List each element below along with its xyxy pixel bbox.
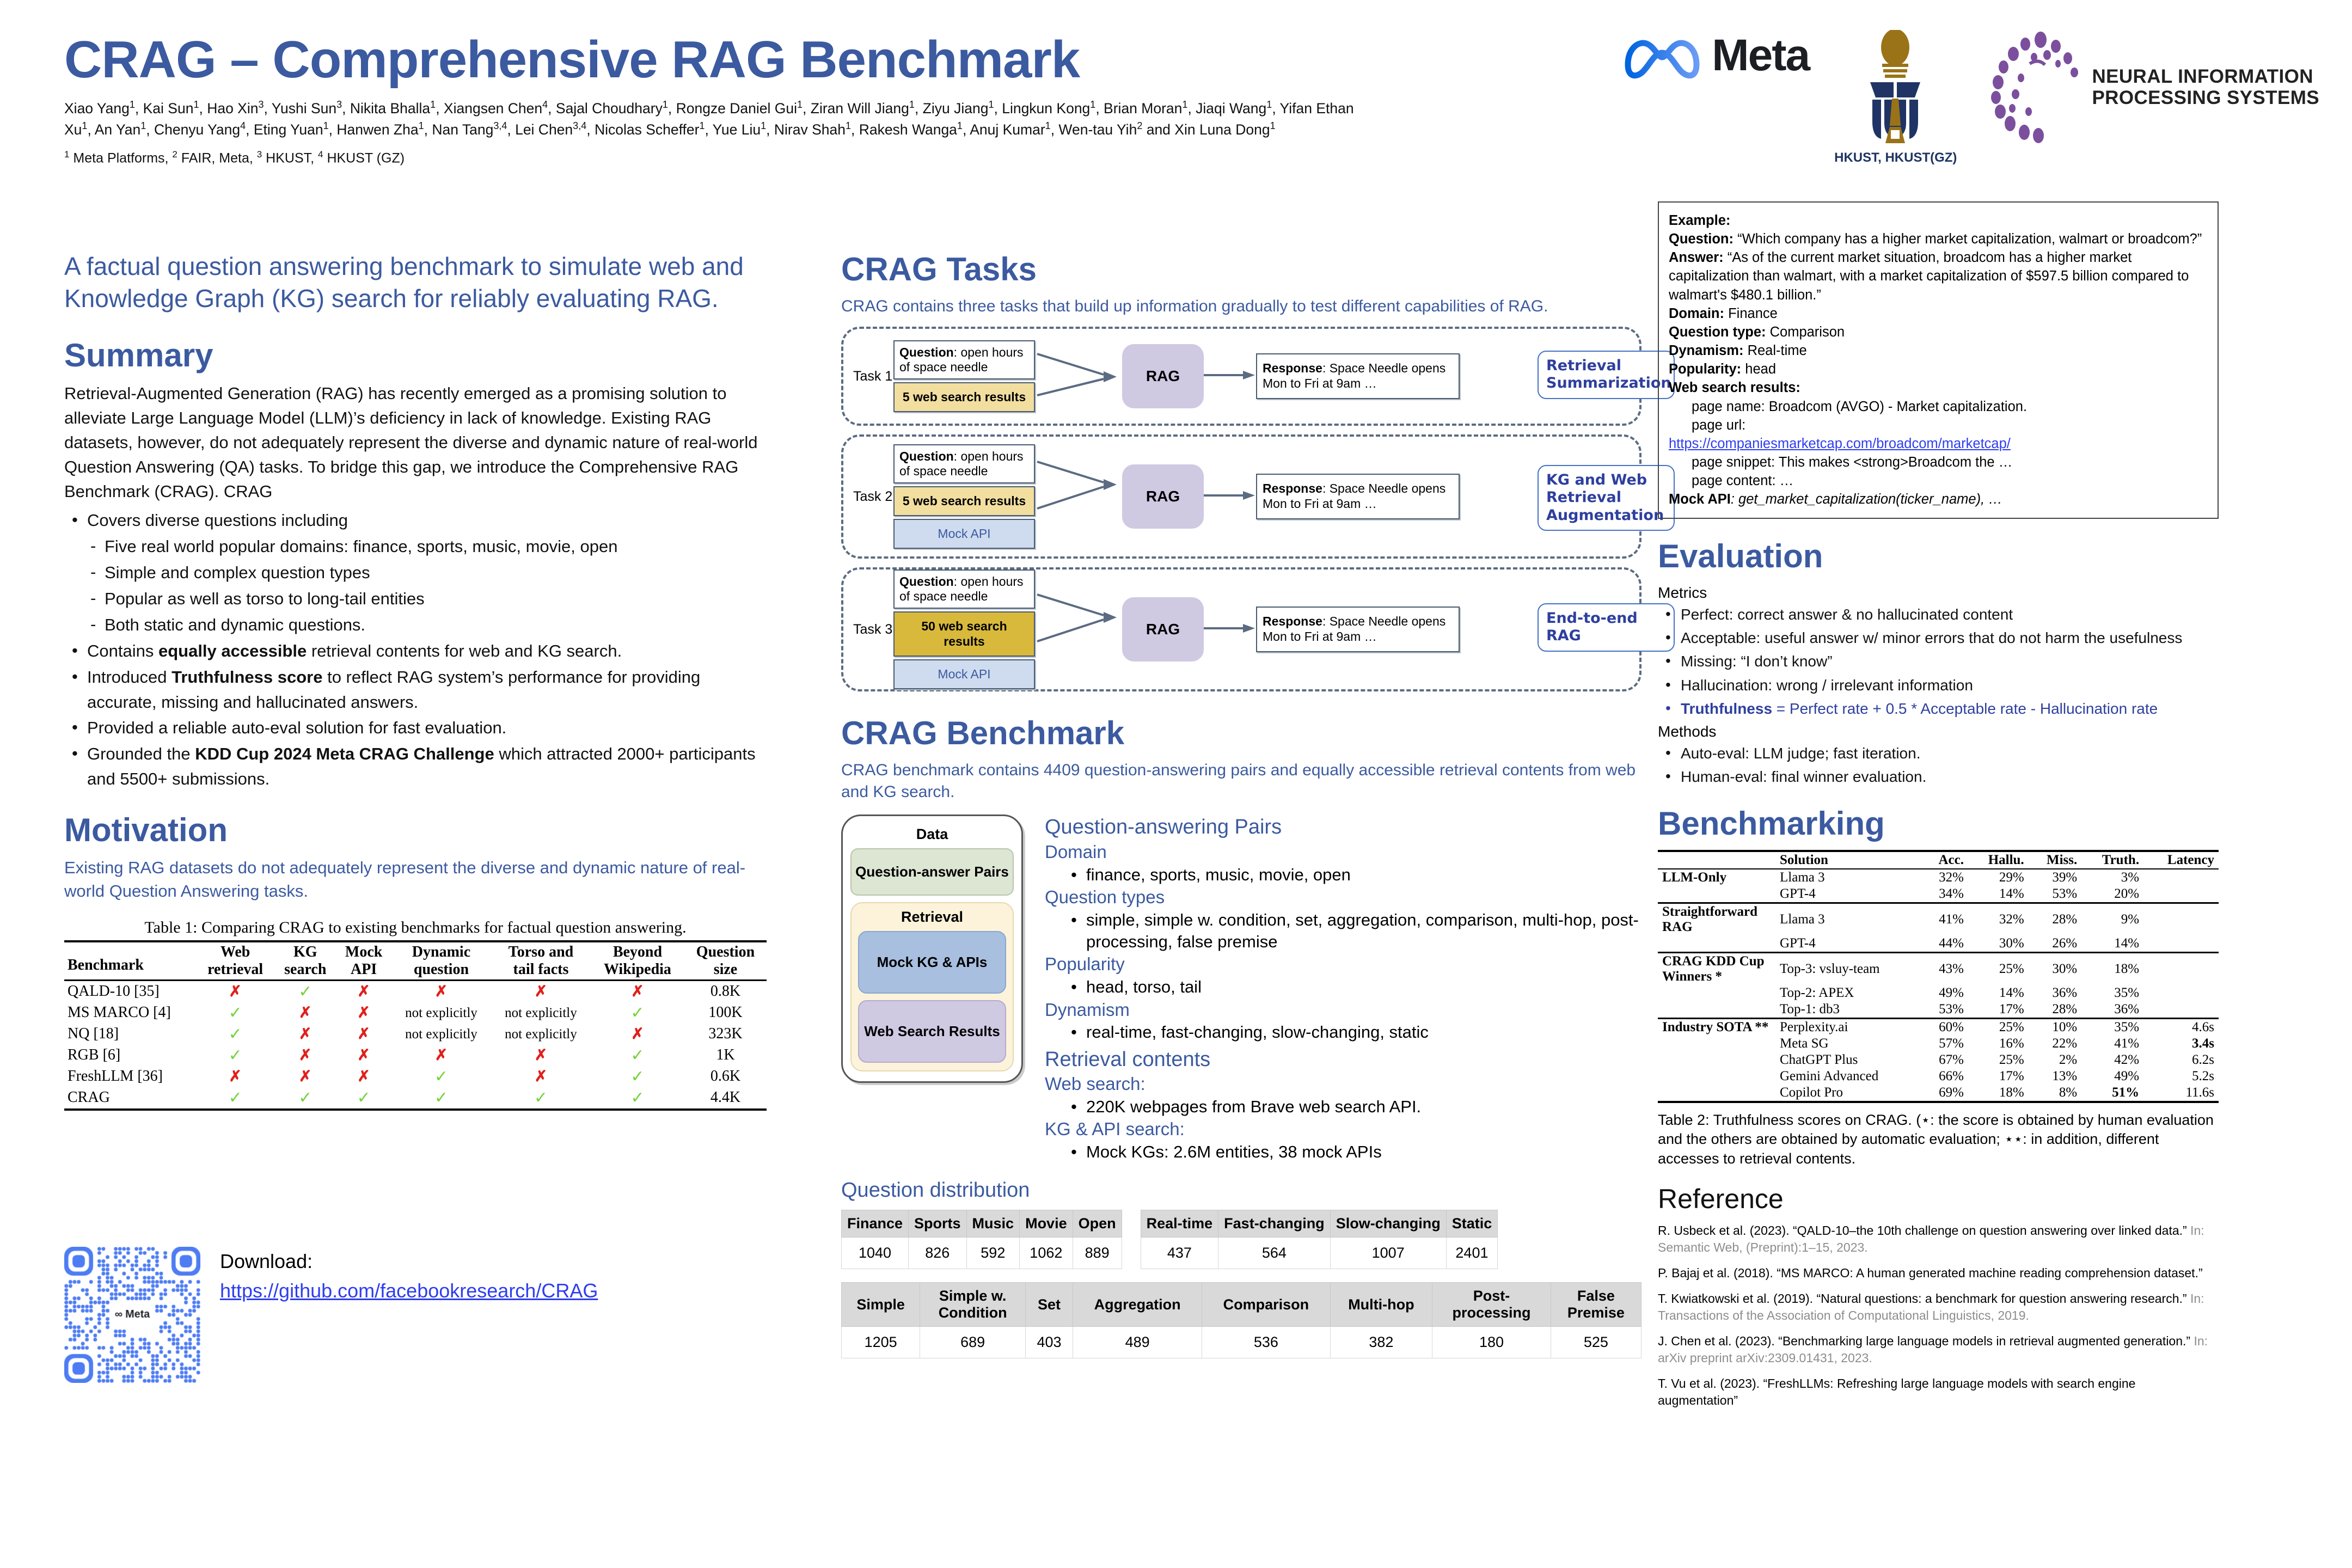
data-stack-diagram: Data Question-answer Pairs Retrieval Moc… [841,814,1023,1083]
hallu-cell: 17% [1968,1001,2029,1019]
page-title: CRAG – Comprehensive RAG Benchmark [64,30,1414,90]
table-row: MS MARCO [4]✓✗✗not explicitlynot explici… [64,1002,767,1024]
table-row: Top-2: APEX49%14%36%35% [1658,985,2219,1001]
response-cell: Response: Space Needle opens Mon to Fri … [1256,474,1460,519]
cell: 489 [1073,1327,1202,1358]
response-cell: Response: Space Needle opens Mon to Fri … [1256,607,1460,652]
list-item: Simple and complex question types [64,560,767,585]
truth-cell: 3% [2081,869,2143,886]
cell: 1K [684,1045,767,1066]
list-item: Hallucination: wrong / irrelevant inform… [1658,674,2219,696]
cell: ✗ [274,1066,336,1087]
column-header: Post-processing [1432,1283,1551,1327]
solution-cell: Llama 3 [1775,869,1922,886]
acc-cell: 49% [1922,985,1968,1001]
miss-cell: 39% [2029,869,2082,886]
cell: ✗ [336,1045,391,1066]
cross-icon: ✗ [299,1047,311,1064]
solution-cell: Top-1: db3 [1775,1001,1922,1019]
crag-tasks-subtitle: CRAG contains three tasks that build up … [841,296,1641,317]
crag-tasks-heading: CRAG Tasks [841,250,1641,288]
cell: 536 [1202,1327,1330,1358]
table-row: Meta SG57%16%22%41%3.4s [1658,1036,2219,1052]
list-item: Acceptable: useful answer w/ minor error… [1658,627,2219,649]
table-row: RGB [6]✓✗✗✗✗✓1K [64,1045,767,1066]
acc-cell: 41% [1922,903,1968,935]
evaluation-heading: Evaluation [1658,537,2219,575]
cell: not explicitly [491,1024,591,1045]
table-row: ChatGPT Plus67%25%2%42%6.2s [1658,1052,2219,1068]
solution-cell: GPT-4 [1775,886,1922,903]
cross-icon: ✗ [357,1047,370,1064]
example-page-url: https://companiesmarketcap.com/broadcom/… [1669,434,2208,453]
cell: 403 [1026,1327,1073,1358]
logo-row: Meta HKUST, HKUST(GZ) [1621,30,2319,166]
group-items: head, torso, tail [1045,976,1641,998]
cell: ✗ [336,1024,391,1045]
hallu-cell: 29% [1968,869,2029,886]
hallu-cell: 18% [1968,1085,2029,1101]
task-callout: End-to-end RAG [1538,603,1675,652]
cross-icon: ✗ [357,1026,370,1043]
example-answer: Answer: “As of the current market situat… [1669,248,2208,304]
miss-cell: 22% [2029,1036,2082,1052]
summary-paragraph: Retrieval-Augmented Generation (RAG) has… [64,382,767,504]
cell: ✓ [591,1066,684,1087]
solution-cell: Perplexity.ai [1775,1018,1922,1036]
latency-cell [2143,903,2219,935]
example-mock-api: Mock API: get_market_capitalization(tick… [1669,490,2208,509]
truth-cell: 14% [2081,935,2143,953]
cell: 323K [684,1024,767,1045]
table-row: Copilot Pro69%18%8%51%11.6s [1658,1085,2219,1101]
cell: 0.6K [684,1066,767,1087]
column-header: Static [1446,1210,1498,1238]
cell: 437 [1141,1238,1218,1269]
cell: 525 [1551,1327,1641,1358]
acc-cell: 67% [1922,1052,1968,1068]
cross-icon: ✗ [535,983,547,1000]
solution-cell: GPT-4 [1775,935,1922,953]
list-item: Five real world popular domains: finance… [64,534,767,559]
table-row: NQ [18]✓✗✗not explicitlynot explicitly✗3… [64,1024,767,1045]
arrow-zone [1035,443,1122,550]
table-header-row: SimpleSimple w.ConditionSetAggregationCo… [842,1283,1641,1327]
table1-body: QALD-10 [35]✗✓✗✗✗✗0.8KMS MARCO [4]✓✗✗not… [64,980,767,1108]
miss-cell: 53% [2029,886,2082,903]
miss-cell: 13% [2029,1068,2082,1085]
table-header-row: Benchmark Webretrieval KGsearch MockAPI … [64,941,767,981]
cross-icon: ✗ [299,1004,311,1021]
acc-cell: 69% [1922,1085,1968,1101]
hallu-cell: 16% [1968,1036,2029,1052]
acc-cell: 43% [1922,952,1968,985]
example-box: Example: Question: “Which company has a … [1658,201,2219,519]
table1-wrapper: Table 1: Comparing CRAG to existing benc… [64,918,767,1111]
latency-cell: 3.4s [2143,1036,2219,1052]
table-header-row: Real-timeFast-changingSlow-changingStati… [1141,1210,1498,1238]
miss-cell: 28% [2029,1001,2082,1019]
cell: not explicitly [491,1002,591,1024]
example-dynamism: Dynamism: Real-time [1669,341,2208,360]
solution-cell: Top-3: vsluy-team [1775,952,1922,985]
table-row: Industry SOTA **Perplexity.ai60%25%10%35… [1658,1018,2219,1036]
group-items: real-time, fast-changing, slow-changing,… [1045,1021,1641,1043]
methods-list: Auto-eval: LLM judge; fast iteration.Hum… [1658,742,2219,788]
column-header: Finance [842,1210,909,1238]
table1: Benchmark Webretrieval KGsearch MockAPI … [64,940,767,1108]
example-question: Question: “Which company has a higher ma… [1669,230,2208,248]
retrieval-box: Retrieval Mock KG & APIs Web Search Resu… [850,902,1014,1071]
list-item: Mock KGs: 2.6M entities, 38 mock APIs [1068,1141,1641,1163]
cross-icon: ✗ [435,983,448,1000]
column-header: Slow-changing [1330,1210,1446,1238]
benchmark-name: CRAG [64,1087,196,1108]
example-popularity: Popularity: head [1669,360,2208,378]
group-title: Web search: [1045,1073,1641,1096]
latency-cell [2143,869,2219,886]
list-item: simple, simple w. condition, set, aggreg… [1068,909,1641,953]
col-beyond-wikipedia: BeyondWikipedia [591,941,684,981]
col-web-retrieval: Webretrieval [196,941,274,981]
table-row: Gemini Advanced66%17%13%49%5.2s [1658,1068,2219,1085]
cell: ✓ [196,1024,274,1045]
table-header-row: SolutionAcc.Hallu.Miss.Truth.Latency [1658,851,2219,869]
middle-column: CRAG Tasks CRAG contains three tasks tha… [841,250,1641,1358]
group-title: KG & API search: [1045,1118,1641,1141]
web-search-cell: 5 web search results [893,382,1035,412]
table-row: Straightforward RAGLlama 341%32%28%9% [1658,903,2219,935]
table-row: QALD-10 [35]✗✓✗✗✗✗0.8K [64,980,767,1002]
distribution-types-table: SimpleSimple w.ConditionSetAggregationCo… [841,1282,1641,1358]
solution-cell: ChatGPT Plus [1775,1052,1922,1068]
cell: ✗ [274,1024,336,1045]
task-callout: KG and Web Retrieval Augmentation [1538,465,1675,531]
cell: not explicitly [391,1002,491,1024]
column-header: Aggregation [1073,1283,1202,1327]
solution-cell: Meta SG [1775,1036,1922,1052]
truth-cell: 20% [2081,886,2143,903]
truth-cell: 9% [2081,903,2143,935]
check-icon: ✓ [229,1004,242,1022]
cell: ✓ [391,1066,491,1087]
column-header: Multi-hop [1330,1283,1432,1327]
acc-cell: 34% [1922,886,1968,903]
mock-api-cell: Mock API [893,519,1035,549]
hkust-crest-icon [1851,30,1940,147]
hallu-cell: 25% [1968,952,2029,985]
group-title: Dynamism [1045,999,1641,1022]
hkust-caption: HKUST, HKUST(GZ) [1834,150,1957,166]
hkust-logo: HKUST, HKUST(GZ) [1834,30,1957,166]
cell: ✗ [336,980,391,1002]
example-domain: Domain: Finance [1669,304,2208,323]
solution-cell: Llama 3 [1775,903,1922,935]
author-list: Xiao Yang1, Kai Sun1, Hao Xin3, Yushi Su… [64,97,1382,140]
truth-cell: 49% [2081,1068,2143,1085]
cell: 2401 [1446,1238,1498,1269]
mock-kg-box: Mock KG & APIs [858,931,1006,994]
cross-icon: ✗ [535,1047,547,1064]
table-row: Top-1: db353%17%28%36% [1658,1001,2219,1019]
check-icon: ✓ [229,1089,242,1107]
summary-bullets-cont: Contains equally accessible retrieval co… [64,639,767,792]
list-item: head, torso, tail [1068,976,1641,998]
distribution-domain-table: FinanceSportsMusicMovieOpen 104082659210… [841,1210,1122,1269]
reference-item: P. Bajaj et al. (2018). “MS MARCO: A hum… [1658,1265,2219,1282]
table-row: CRAG✓✓✓✓✓✓4.4K [64,1087,767,1108]
task-label: Task 1 [853,369,893,384]
check-icon: ✓ [298,983,312,1001]
cell: 889 [1073,1238,1122,1269]
cell: ✗ [591,980,684,1002]
summary-bullets: Covers diverse questions including [64,508,767,533]
response-cell: Response: Space Needle opens Mon to Fri … [1256,353,1460,399]
benchmark-name: FreshLLM [36] [64,1066,196,1087]
metrics-title: Metrics [1658,583,2219,603]
qa-pairs-box: Question-answer Pairs [850,848,1014,896]
cell: ✓ [274,1087,336,1108]
group-name: Industry SOTA ** [1658,1018,1775,1036]
tasks-diagram: Task 1Question: open hours of space need… [841,327,1641,691]
cell: ✗ [336,1002,391,1024]
task-label: Task 3 [853,622,893,638]
cell: 180 [1432,1327,1551,1358]
column-header: FalsePremise [1551,1283,1641,1327]
motivation-heading: Motivation [64,811,767,849]
download-text: Download: https://github.com/facebookres… [220,1247,598,1306]
latency-cell [2143,886,2219,903]
column-header: Open [1073,1210,1122,1238]
list-item: real-time, fast-changing, slow-changing,… [1068,1021,1641,1043]
rag-node: RAG [1122,597,1204,661]
list-item: Introduced Truthfulness score to reflect… [64,665,767,715]
web-search-cell: 50 web search results [893,611,1035,656]
crag-benchmark-subtitle: CRAG benchmark contains 4409 question-an… [841,759,1641,803]
col-torso-tail: Torso andtail facts [491,941,591,981]
miss-cell: 36% [2029,985,2082,1001]
arrow-zone-2 [1204,369,1256,384]
column-header: Comparison [1202,1283,1330,1327]
check-icon: ✓ [229,1025,242,1043]
list-item: Provided a reliable auto-eval solution f… [64,715,767,740]
question-cell: Question: open hours of space needle [893,444,1035,483]
retrieval-groups: Web search:220K webpages from Brave web … [1045,1073,1641,1163]
question-distribution-heading: Question distribution [841,1178,1641,1204]
neurips-wordmark: NEURAL INFORMATION PROCESSING SYSTEMS [2092,66,2319,108]
cell: 100K [684,1002,767,1024]
question-cell: Question: open hours of space needle [893,569,1035,609]
list-item: 220K webpages from Brave web search API. [1068,1096,1641,1118]
benchmarking-heading: Benchmarking [1658,805,2219,842]
acc-cell: 44% [1922,935,1968,953]
check-icon: ✓ [534,1089,548,1107]
truth-cell: 35% [2081,1018,2143,1036]
benchmark-name: NQ [18] [64,1024,196,1045]
hallu-cell: 25% [1968,1052,2029,1068]
rag-node: RAG [1122,464,1204,529]
truth-cell: 36% [2081,1001,2143,1019]
column-header: Latency [2143,851,2219,869]
evaluation-body: Metrics Perfect: correct answer & no hal… [1658,583,2219,788]
crag-benchmark-heading: CRAG Benchmark [841,714,1641,752]
cell: ✓ [391,1087,491,1108]
arrow-zone-2 [1204,622,1256,638]
cell: ✗ [491,1066,591,1087]
latency-cell [2143,1001,2219,1019]
list-item: Contains equally accessible retrieval co… [64,639,767,664]
cross-icon: ✗ [299,1026,311,1043]
table2-body: LLM-OnlyLlama 332%29%39%3%GPT-434%14%53%… [1658,869,2219,1101]
group-items: simple, simple w. condition, set, aggreg… [1045,909,1641,953]
retrieval-label: Retrieval [858,909,1006,926]
task-callout: Retrieval Summarization [1538,351,1675,399]
reference-item: T. Kwiatkowski et al. (2019). “Natural q… [1658,1290,2219,1324]
flow-arrow-icon [1035,576,1122,658]
acc-cell: 32% [1922,869,1968,886]
cell: ✓ [591,1045,684,1066]
table-row: GPT-434%14%53%20% [1658,886,2219,903]
column-header: Real-time [1141,1210,1218,1238]
right-column: Example: Question: “Which company has a … [1658,201,2219,1418]
cell: ✗ [196,980,274,1002]
table-row: LLM-OnlyLlama 332%29%39%3% [1658,869,2219,886]
cross-icon: ✗ [435,1047,448,1064]
truth-cell: 35% [2081,985,2143,1001]
column-header [1658,851,1775,869]
example-web-label: Web search results: [1669,378,2208,397]
download-label: Download: [220,1247,598,1276]
list-item: Both static and dynamic questions. [64,612,767,638]
mock-api-cell: Mock API [893,659,1035,689]
poster-root: CRAG – Comprehensive RAG Benchmark Xiao … [0,0,2352,1568]
task-panel: Task 2Question: open hours of space need… [841,434,1641,559]
task-panel: Task 3Question: open hours of space need… [841,567,1641,691]
column-header: Miss. [2029,851,2082,869]
header: CRAG – Comprehensive RAG Benchmark Xiao … [64,30,1414,166]
col-dynamic-question: Dynamicquestion [391,941,491,981]
table2: SolutionAcc.Hallu.Miss.Truth.Latency LLM… [1658,850,2219,1101]
column-header: Music [966,1210,1020,1238]
cell: ✓ [196,1087,274,1108]
flow-arrow-icon [1204,622,1256,635]
reference-heading: Reference [1658,1183,2219,1215]
web-search-results-box: Web Search Results [858,1000,1006,1063]
cell: ✓ [491,1087,591,1108]
neurips-logo: NEURAL INFORMATION PROCESSING SYSTEMS [1982,30,2319,144]
list-item: Missing: “I don’t know” [1658,650,2219,672]
cell: ✗ [274,1002,336,1024]
check-icon: ✓ [630,1068,644,1086]
cell: ✗ [274,1045,336,1066]
table-row: 43756410072401 [1141,1238,1498,1269]
cell: 689 [920,1327,1026,1358]
hallu-cell: 14% [1968,985,2029,1001]
cell: ✓ [591,1087,684,1108]
meta-wordmark: Meta [1712,30,1809,81]
truth-cell: 41% [2081,1036,2143,1052]
list-item: Perfect: correct answer & no hallucinate… [1658,603,2219,626]
group-title: Domain [1045,841,1641,864]
col-question-size: Questionsize [684,941,767,981]
lead-statement: A factual question answering benchmark t… [64,250,767,315]
example-heading: Example: [1669,213,1730,228]
miss-cell: 8% [2029,1085,2082,1101]
cell: ✗ [391,1045,491,1066]
list-item: Grounded the KDD Cup 2024 Meta CRAG Chal… [64,742,767,792]
qr-code[interactable] [64,1247,200,1383]
group-items: 220K webpages from Brave web search API. [1045,1096,1641,1118]
cell: 382 [1330,1327,1432,1358]
group-items: Mock KGs: 2.6M entities, 38 mock APIs [1045,1141,1641,1163]
latency-cell: 11.6s [2143,1085,2219,1101]
cross-icon: ✗ [299,1068,311,1085]
truth-cell: 42% [2081,1052,2143,1068]
cell: 0.8K [684,980,767,1002]
group-name: Straightforward RAG [1658,903,1775,935]
example-page-name: page name: Broadcom (AVGO) - Market capi… [1669,397,2208,416]
miss-cell: 26% [2029,935,2082,953]
list-item: finance, sports, music, movie, open [1068,864,1641,886]
table-row: FreshLLM [36]✗✗✗✓✗✓0.6K [64,1066,767,1087]
table-row: 10408265921062889 [842,1238,1122,1269]
example-page-snippet: page snippet: This makes <strong>Broadco… [1669,453,2208,471]
check-icon: ✓ [298,1089,312,1107]
left-column: A factual question answering benchmark t… [64,250,767,1111]
cell: ✓ [196,1002,274,1024]
cross-icon: ✗ [357,983,370,1000]
arrow-zone [1035,576,1122,683]
cell: ✗ [391,980,491,1002]
cell: ✗ [196,1066,274,1087]
list-item: Covers diverse questions including [64,508,767,533]
latency-cell: 6.2s [2143,1052,2219,1068]
table-header-row: FinanceSportsMusicMovieOpen [842,1210,1122,1238]
cell: 1040 [842,1238,909,1269]
summary-heading: Summary [64,336,767,374]
table-row: GPT-444%30%26%14% [1658,935,2219,953]
column-header: Simple w.Condition [920,1283,1026,1327]
cell: 826 [909,1238,967,1269]
download-link[interactable]: https://github.com/facebookresearch/CRAG [220,1279,598,1302]
acc-cell: 60% [1922,1018,1968,1036]
column-header: Set [1026,1283,1073,1327]
reference-list: R. Usbeck et al. (2023). “QALD-10–the 10… [1658,1222,2219,1409]
list-item: Popular as well as torso to long-tail en… [64,586,767,611]
miss-cell: 30% [2029,952,2082,985]
truth-cell: 18% [2081,952,2143,985]
arrow-zone [1035,335,1122,417]
table1-caption: Table 1: Comparing CRAG to existing benc… [64,918,767,937]
table-row: 1205689403489536382180525 [842,1327,1641,1358]
cell: 1007 [1330,1238,1446,1269]
group-items: finance, sports, music, movie, open [1045,864,1641,886]
list-item: Human-eval: final winner evaluation. [1658,765,2219,788]
group-title: Question types [1045,886,1641,909]
solution-cell: Copilot Pro [1775,1085,1922,1101]
web-search-cell: 5 web search results [893,486,1035,516]
cell: ✗ [336,1066,391,1087]
latency-cell [2143,985,2219,1001]
check-icon: ✓ [630,1089,644,1107]
miss-cell: 2% [2029,1052,2082,1068]
miss-cell: 10% [2029,1018,2082,1036]
latency-cell [2143,935,2219,953]
check-icon: ✓ [229,1046,242,1064]
flow-arrow-icon [1204,369,1256,382]
group-title: Popularity [1045,953,1641,976]
methods-title: Methods [1658,721,2219,742]
